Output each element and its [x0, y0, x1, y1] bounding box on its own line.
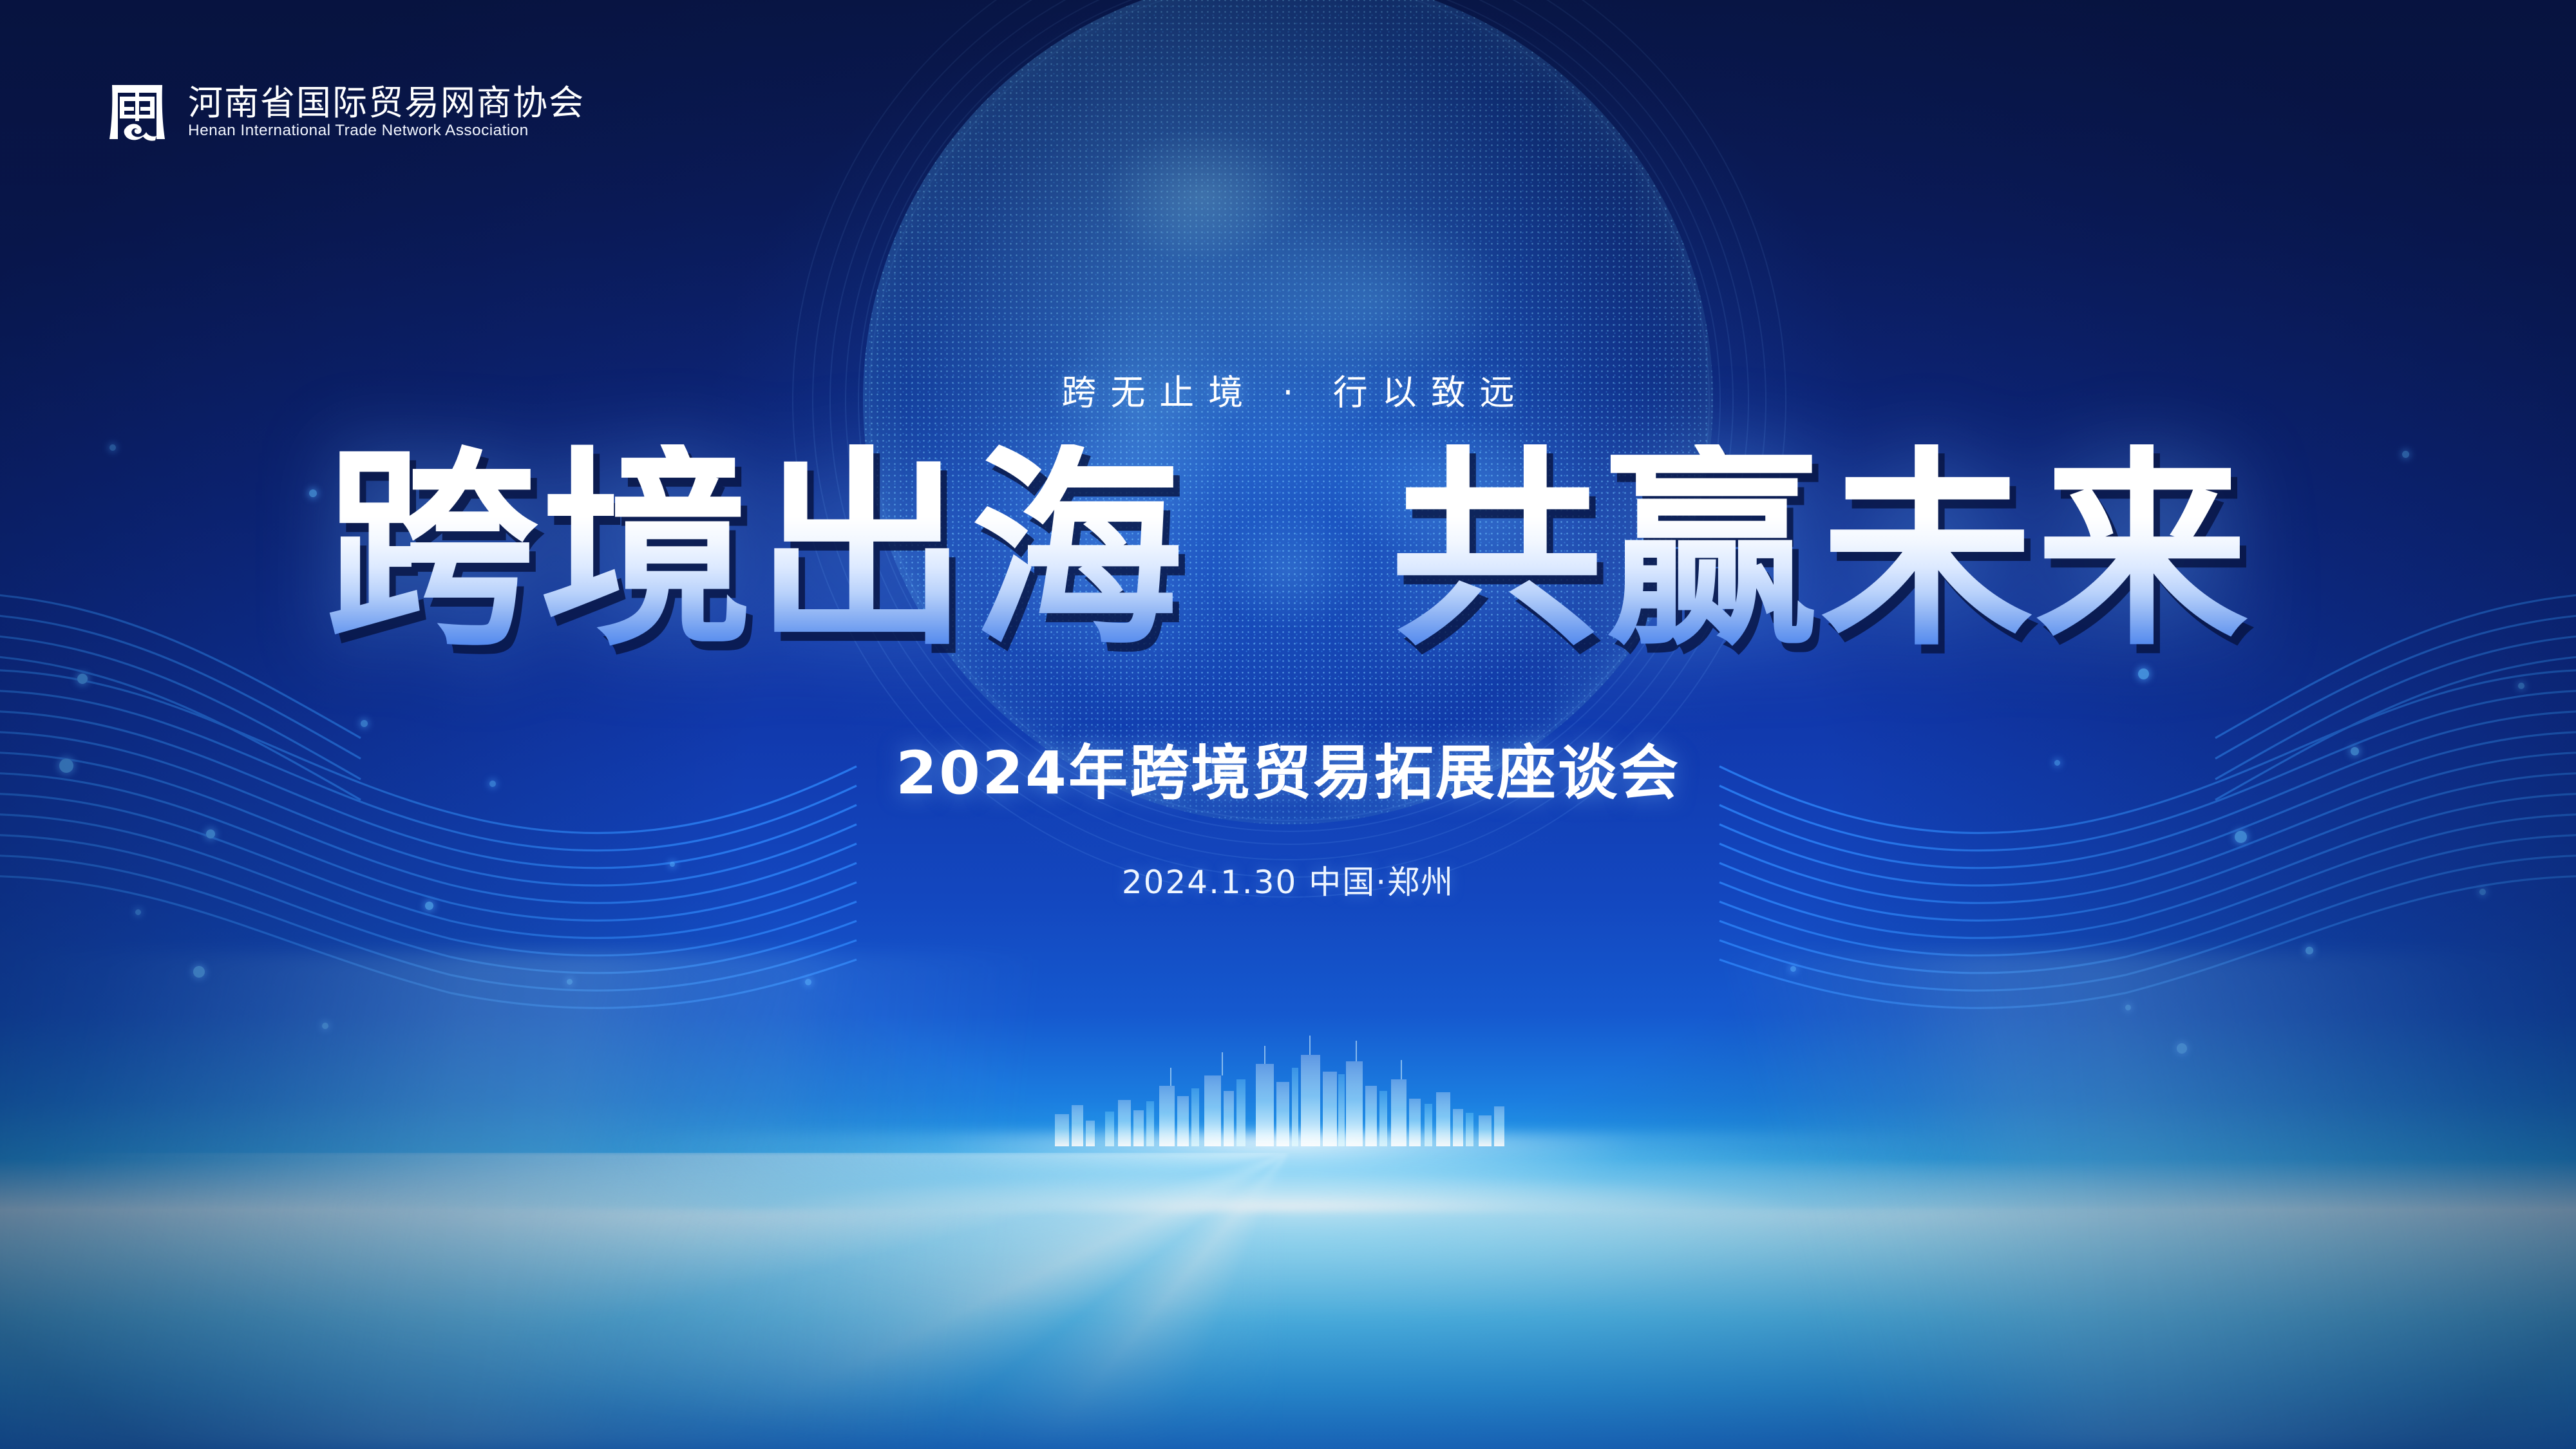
hero-title-part-1: 跨境出海	[325, 444, 1186, 657]
event-poster: 河南省国际贸易网商协会 Henan International Trade Ne…	[0, 0, 2576, 1449]
logo-text-block: 河南省国际贸易网商协会 Henan International Trade Ne…	[188, 86, 585, 139]
association-logo[interactable]: 河南省国际贸易网商协会 Henan International Trade Ne…	[103, 79, 585, 146]
henan-trade-seal-emblem-icon	[103, 79, 171, 146]
hero-subtitle: 2024年跨境贸易拓展座谈会	[0, 744, 2576, 803]
hero-tagline: 跨无止境 · 行以致远	[0, 364, 2576, 415]
logo-chinese-name: 河南省国际贸易网商协会	[188, 86, 585, 120]
hero-title: 跨境出海 共赢未来	[0, 444, 2576, 657]
hero-title-part-2: 共赢未来	[1390, 444, 2251, 657]
hero-date-location: 2024.1.30 中国·郑州	[0, 866, 2576, 898]
city-skyline-silhouette	[1043, 1024, 1533, 1146]
logo-english-name: Henan International Trade Network Associ…	[188, 123, 585, 139]
